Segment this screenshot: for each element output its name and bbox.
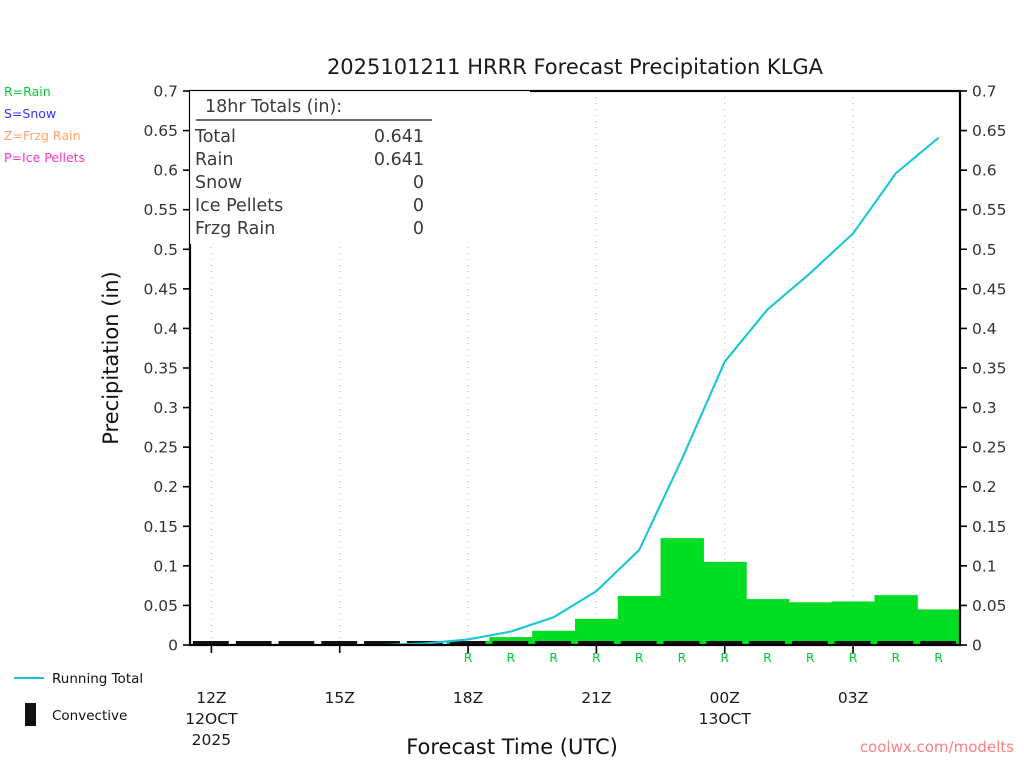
ptype-marker: R (592, 650, 601, 665)
legend-running-total-label: Running Total (52, 671, 143, 687)
y-tick-label-left: 0.65 (143, 122, 178, 140)
ptype-marker: R (635, 650, 644, 665)
totals-row-label: Frzg Rain (195, 219, 275, 239)
totals-row-label: Rain (195, 150, 233, 170)
ptype-marker: R (549, 650, 558, 665)
totals-box-header: 18hr Totals (in): (205, 97, 342, 117)
y-tick-label-right: 0.7 (972, 83, 997, 101)
ptype-marker: R (891, 650, 900, 665)
y-tick-label-right: 0.55 (972, 201, 1007, 219)
y-tick-label-left: 0.6 (153, 162, 178, 180)
y-axis-title: Precipitation (in) (99, 271, 123, 444)
y-tick-label-right: 0.65 (972, 122, 1007, 140)
y-tick-label-right: 0.45 (972, 280, 1007, 298)
precip-bar (789, 602, 832, 645)
y-tick-label-left: 0 (168, 637, 178, 655)
totals-row-value: 0 (413, 196, 424, 216)
x-tick-label: 12Z (196, 689, 226, 707)
precip-bar (874, 595, 917, 645)
y-tick-label-right: 0.25 (972, 439, 1007, 457)
y-tick-label-left: 0.55 (143, 201, 178, 219)
x-axis-title: Forecast Time (UTC) (406, 735, 618, 759)
legend-convective-label: Convective (52, 708, 127, 724)
y-tick-label-left: 0.7 (153, 83, 178, 101)
x-tick-label: 18Z (453, 689, 483, 707)
ptype-marker: R (806, 650, 815, 665)
y-tick-label-right: 0.15 (972, 518, 1007, 536)
ptype-marker: R (720, 650, 729, 665)
x-tick-label: 21Z (581, 689, 611, 707)
y-tick-label-right: 0.5 (972, 241, 997, 259)
ptype-marker: R (849, 650, 858, 665)
precip-bar (832, 601, 875, 645)
y-tick-label-right: 0.1 (972, 557, 997, 575)
y-tick-label-left: 0.25 (143, 439, 178, 457)
y-tick-label-left: 0.5 (153, 241, 178, 259)
y-tick-label-left: 0.4 (153, 320, 178, 338)
precip-bar (917, 609, 960, 645)
ptype-key-0: R=Rain (4, 84, 51, 99)
totals-row-value: 0 (413, 173, 424, 193)
y-tick-label-right: 0.4 (972, 320, 997, 338)
y-tick-label-left: 0.35 (143, 360, 178, 378)
y-tick-label-left: 0.3 (153, 399, 178, 417)
precip-bar (703, 562, 746, 645)
totals-row-value: 0 (413, 219, 424, 239)
precip-bar (661, 538, 704, 645)
x-tick-sublabel-date: 13OCT (699, 710, 752, 728)
y-tick-label-right: 0.05 (972, 597, 1007, 615)
y-tick-label-right: 0.6 (972, 162, 997, 180)
totals-row-label: Ice Pellets (195, 196, 283, 216)
ptype-key-1: S=Snow (4, 106, 56, 121)
ptype-marker: R (934, 650, 943, 665)
totals-row-value: 0.641 (374, 127, 424, 147)
watermark: coolwx.com/modelts (860, 738, 1014, 756)
y-tick-label-left: 0.1 (153, 557, 178, 575)
totals-row-label: Snow (195, 173, 242, 193)
y-tick-label-right: 0.2 (972, 478, 997, 496)
y-tick-label-left: 0.05 (143, 597, 178, 615)
x-tick-label: 03Z (838, 689, 868, 707)
ptype-marker: R (678, 650, 687, 665)
y-tick-label-left: 0.15 (143, 518, 178, 536)
x-tick-sublabel-year: 2025 (192, 731, 231, 749)
ptype-key-2: Z=Frzg Rain (4, 128, 80, 143)
x-tick-label: 00Z (710, 689, 740, 707)
chart-screenshot: 2025101211 HRRR Forecast Precipitation K… (0, 0, 1024, 768)
y-tick-label-left: 0.45 (143, 280, 178, 298)
x-tick-label: 15Z (325, 689, 355, 707)
legend-convective-swatch (25, 703, 36, 726)
ptype-marker: R (763, 650, 772, 665)
y-tick-label-right: 0 (972, 637, 982, 655)
totals-box: 18hr Totals (in): Total0.641Rain0.641Sno… (190, 91, 530, 244)
x-tick-sublabel-date: 12OCT (185, 710, 238, 728)
ptype-marker: R (506, 650, 515, 665)
page-title: 2025101211 HRRR Forecast Precipitation K… (327, 55, 824, 79)
y-tick-label-right: 0.35 (972, 360, 1007, 378)
precipitation-chart: 2025101211 HRRR Forecast Precipitation K… (0, 0, 1024, 768)
totals-row-value: 0.641 (374, 150, 424, 170)
ptype-marker: R (464, 650, 473, 665)
y-tick-label-left: 0.2 (153, 478, 178, 496)
precip-bar (618, 596, 661, 645)
y-tick-label-right: 0.3 (972, 399, 997, 417)
precip-bar (746, 599, 789, 645)
ptype-key-3: P=Ice Pellets (4, 150, 85, 165)
totals-row-label: Total (194, 127, 236, 147)
